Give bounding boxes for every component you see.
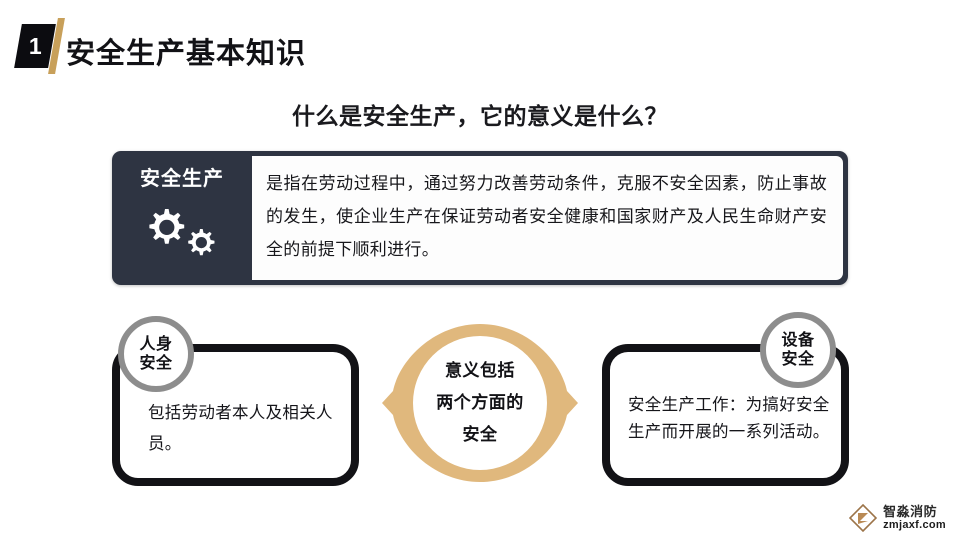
slide-header: 1 安全生产基本知识 — [0, 0, 960, 86]
aspect-badge-personal-safety: 人身 安全 — [118, 316, 194, 392]
slide-canvas: 1 安全生产基本知识 什么是安全生产，它的意义是什么？ 安全生产 是指在劳动过程… — [0, 0, 960, 540]
page-title: 安全生产基本知识 — [66, 30, 306, 72]
definition-text-panel: 是指在劳动过程中，通过努力改善劳动条件，克服不安全因素，防止事故的发生，使企业生… — [252, 156, 843, 280]
watermark-logo: 智淼消防 zmjaxf.com — [849, 504, 946, 532]
definition-body: 是指在劳动过程中，通过努力改善劳动条件，克服不安全因素，防止事故的发生，使企业生… — [266, 167, 827, 266]
diamond-flame-icon — [849, 504, 877, 532]
aspect-badge-line2-personal: 安全 — [139, 354, 172, 373]
gears-icon — [134, 201, 230, 263]
definition-label-panel: 安全生产 — [112, 151, 252, 285]
section-number: 1 — [29, 35, 42, 58]
aspect-body-personal-safety: 包括劳动者本人及相关人员。 — [148, 398, 336, 460]
aspect-badge-equipment-safety: 设备 安全 — [760, 312, 836, 388]
logo-name: 智淼消防 — [883, 505, 946, 518]
center-lens-shape — [382, 318, 578, 488]
aspect-badge-line1-equipment: 设备 — [781, 331, 814, 350]
definition-card: 安全生产 是指在劳动过程中，通过努力改善劳动条件，克服不安全因素，防止事故的发生… — [112, 151, 848, 285]
aspect-badge-line2-equipment: 安全 — [781, 350, 814, 369]
logo-url: zmjaxf.com — [883, 520, 946, 531]
aspect-body-equipment-safety: 安全生产工作：为搞好安全生产而开展的一系列活动。 — [628, 392, 834, 446]
question-subheading: 什么是安全生产，它的意义是什么？ — [0, 97, 960, 131]
aspect-badge-line1-personal: 人身 — [139, 335, 172, 354]
definition-label: 安全生产 — [140, 169, 224, 189]
logo-text-group: 智淼消防 zmjaxf.com — [883, 505, 946, 531]
